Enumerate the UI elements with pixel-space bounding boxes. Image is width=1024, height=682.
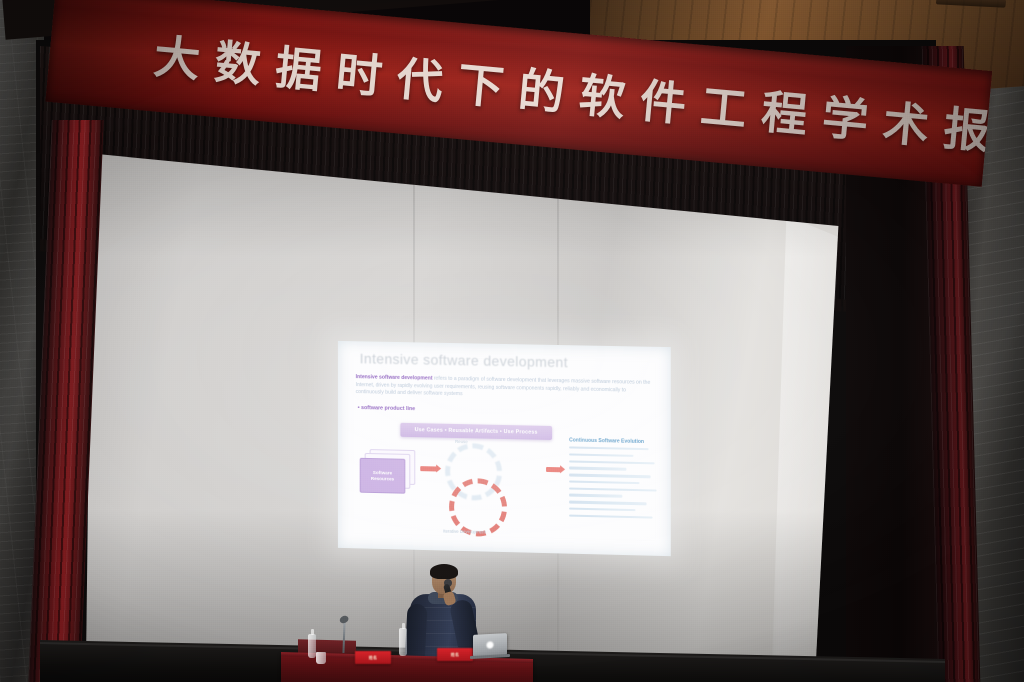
slide-text-line xyxy=(569,480,639,484)
slide-text-line xyxy=(569,460,654,464)
projected-slide: Intensive software development Intensive… xyxy=(338,341,671,556)
slide-text-line xyxy=(569,446,649,450)
slide-text-line xyxy=(569,453,634,457)
slide-paragraph-lead: Intensive software development xyxy=(356,374,433,381)
slide-bullet: • software product line xyxy=(358,405,415,412)
paper-cup-icon xyxy=(316,652,326,664)
slide-text-line xyxy=(569,501,647,505)
arrow-right-icon xyxy=(546,467,561,472)
water-bottle-icon xyxy=(399,628,407,656)
laptop xyxy=(473,633,507,657)
water-bottle-icon xyxy=(308,634,316,658)
slide-text-line xyxy=(569,494,623,498)
ring-label-bottom: Iterative Development xyxy=(443,529,486,535)
slide-title: Intensive software development xyxy=(360,350,568,370)
slide-text-line xyxy=(569,487,657,491)
name-placard: 姓名 xyxy=(437,648,473,661)
name-placard: 姓名 xyxy=(355,651,391,664)
apple-logo-icon xyxy=(486,641,494,649)
slide-text-line xyxy=(569,508,636,512)
slide-text-line xyxy=(569,514,652,518)
slide-right-column: Continuous Software Evolution xyxy=(569,437,662,523)
photo-scene: Intensive software development Intensive… xyxy=(0,0,1024,682)
slide-text-line xyxy=(569,467,626,471)
software-resources-card: Software Resources xyxy=(360,458,406,494)
slide-pill-banner: Use Cases • Reusable Artifacts • Use Pro… xyxy=(400,423,552,440)
document-stack-icon: Software Resources xyxy=(360,449,414,492)
presenter-hair xyxy=(430,564,458,579)
arrow-right-icon xyxy=(420,466,437,471)
slide-column-heading: Continuous Software Evolution xyxy=(569,437,662,445)
slide-text-line xyxy=(569,474,650,478)
slide-paragraph: Intensive software development refers to… xyxy=(356,374,656,403)
ring-label-top: Reuse xyxy=(455,439,468,444)
